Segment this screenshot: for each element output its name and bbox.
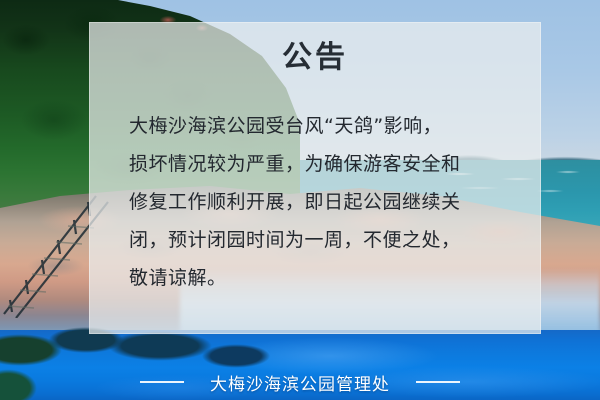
notice-body-line: 修复工作顺利开展，即日起公园继续关: [129, 183, 514, 221]
notice-title: 公告: [90, 43, 540, 73]
notice-body: 大梅沙海滨公园受台风“天鸽”影响， 损坏情况较为严重，为确保游客安全和 修复工作…: [129, 107, 514, 297]
notice-body-line: 大梅沙海滨公园受台风“天鸽”影响，: [129, 107, 514, 145]
issuing-authority: 大梅沙海滨公园管理处: [210, 370, 390, 395]
notice-body-line: 敬请谅解。: [129, 259, 514, 297]
left-rule-icon: [140, 381, 184, 383]
notice-poster: 公告 大梅沙海滨公园受台风“天鸽”影响， 损坏情况较为严重，为确保游客安全和 修…: [0, 0, 600, 400]
notice-panel: 公告 大梅沙海滨公园受台风“天鸽”影响， 损坏情况较为严重，为确保游客安全和 修…: [89, 22, 541, 334]
notice-body-line: 闭，预计闭园时间为一周，不便之处，: [129, 221, 514, 259]
notice-body-line: 损坏情况较为严重，为确保游客安全和: [129, 145, 514, 183]
footer-signature-row: 大梅沙海滨公园管理处: [0, 368, 600, 396]
right-rule-icon: [416, 381, 460, 383]
